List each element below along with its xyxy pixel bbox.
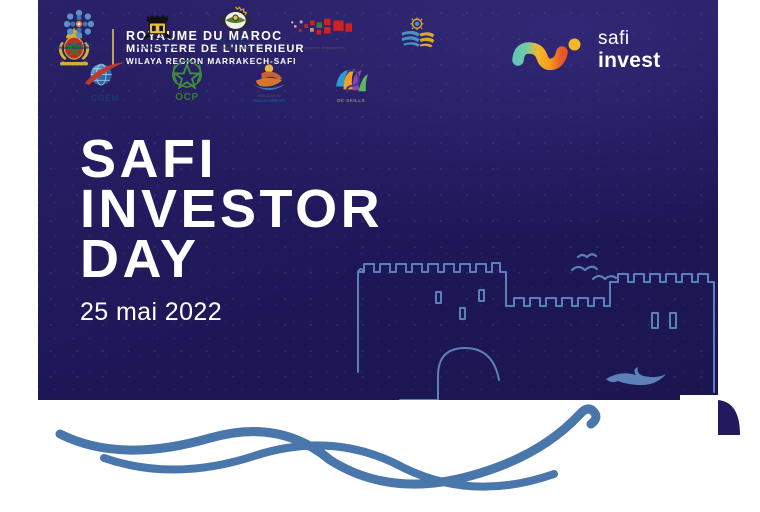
partner-logo-grid: جهة مراكش آسفي Région Marrakech Safi [52,2,448,104]
event-date: 25 mai 2022 [80,298,383,327]
safi-invest-wave-mark-icon [512,28,588,72]
province-de-safi-icon: PROVINCE DE SAFI [130,10,184,51]
ocp-star-icon: OCP [160,57,214,104]
association-hand-icon: ASSOCIATION Hasnd ABBAPI [242,59,296,103]
title-line-1: SAFI [80,134,383,184]
flying-birds-icon [572,254,616,279]
agence-developpement-icon: Agence de développement [286,11,362,51]
title-line-3: DAY [80,234,383,284]
safi-invest-logo: safi invest [512,28,661,72]
poster-canvas: ROYAUME DU MAROC MINISTERE DE L'INTERIEU… [0,0,760,512]
brand-word-invest: invest [598,50,661,71]
logo-caption: PROVINCE DE SAFI [136,46,177,51]
title-line-2: INVESTOR [80,184,383,234]
logo-caption: OCP [175,93,198,104]
partner-logo-row-2: CGEM OCP [78,57,448,104]
cgem-globe-icon: CGEM [78,58,132,103]
brand-word-safi: safi [598,29,661,48]
logo-caption: Région Marrakech Safi [55,46,102,51]
commune-safi-icon: S.A.F.I Commune Urbaine [208,2,262,51]
page-title: SAFI INVESTOR DAY 25 mai 2022 [80,134,383,327]
logo-subcaption: Commune Urbaine [220,47,250,51]
ocean-wave-icon [0,330,760,512]
partner-logo-row-1: جهة مراكش آسفي Région Marrakech Safi [52,2,448,51]
panel-corner-curve [680,395,740,435]
region-marrakech-safi-icon: جهة مراكش آسفي Région Marrakech Safi [52,7,106,51]
dc-skills-icon: DC SKILLS [324,63,378,104]
logo-caption: DC SKILLS [337,99,365,104]
cooperation-icon [386,15,448,51]
safi-invest-wordmark: safi invest [598,29,661,71]
logo-caption: Hasnd ABBAPI [253,99,286,104]
logo-caption: CGEM [91,94,120,103]
logo-subcaption: Agence de développement [304,47,344,51]
